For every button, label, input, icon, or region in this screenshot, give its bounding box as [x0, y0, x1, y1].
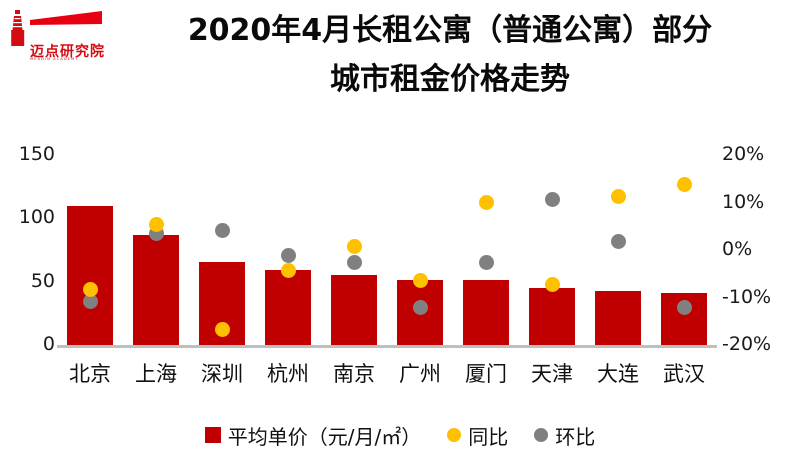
yoy-dot-天津[interactable]	[545, 277, 560, 292]
bar-上海[interactable]	[133, 235, 179, 345]
left-axis: 050100150	[0, 0, 55, 467]
right-axis: -20%-10%0%10%20%	[722, 0, 800, 467]
axis-baseline	[57, 345, 717, 348]
legend-swatch-square-icon	[205, 427, 221, 443]
category-label-北京: 北京	[57, 358, 123, 388]
legend-swatch-circle-icon	[447, 428, 461, 442]
left-axis-tick-150: 150	[3, 143, 55, 165]
bar-天津[interactable]	[529, 288, 575, 345]
yoy-dot-大连[interactable]	[611, 189, 626, 204]
mom-dot-广州[interactable]	[413, 300, 428, 315]
category-label-广州: 广州	[387, 358, 453, 388]
mom-dot-厦门[interactable]	[479, 255, 494, 270]
category-label-深圳: 深圳	[189, 358, 255, 388]
category-label-厦门: 厦门	[453, 358, 519, 388]
legend-label: 平均单价（元/月/㎡）	[228, 421, 421, 450]
category-label-大连: 大连	[585, 358, 651, 388]
legend-item-1[interactable]: 同比	[447, 421, 508, 450]
bar-大连[interactable]	[595, 291, 641, 345]
chart-plot-area: 050100150 -20%-10%0%10%20% 北京上海深圳杭州南京广州厦…	[0, 0, 800, 467]
mom-dot-南京[interactable]	[347, 255, 362, 270]
left-axis-tick-100: 100	[3, 206, 55, 228]
yoy-dot-深圳[interactable]	[215, 322, 230, 337]
category-label-杭州: 杭州	[255, 358, 321, 388]
category-label-天津: 天津	[519, 358, 585, 388]
yoy-dot-杭州[interactable]	[281, 263, 296, 278]
mom-dot-天津[interactable]	[545, 192, 560, 207]
legend-label: 环比	[555, 421, 595, 450]
bar-北京[interactable]	[67, 206, 113, 345]
mom-dot-大连[interactable]	[611, 234, 626, 249]
yoy-dot-南京[interactable]	[347, 239, 362, 254]
yoy-dot-北京[interactable]	[83, 282, 98, 297]
legend-label: 同比	[468, 421, 508, 450]
right-axis-tick-neg10pct: -10%	[722, 286, 792, 308]
mom-dot-武汉[interactable]	[677, 300, 692, 315]
left-axis-tick-50: 50	[3, 270, 55, 292]
right-axis-tick-20pct: 20%	[722, 143, 792, 165]
category-label-上海: 上海	[123, 358, 189, 388]
yoy-dot-厦门[interactable]	[479, 195, 494, 210]
yoy-dot-广州[interactable]	[413, 273, 428, 288]
bar-杭州[interactable]	[265, 270, 311, 345]
right-axis-tick-10pct: 10%	[722, 191, 792, 213]
legend-item-0[interactable]: 平均单价（元/月/㎡）	[205, 421, 421, 450]
legend-swatch-circle-icon	[534, 428, 548, 442]
bar-厦门[interactable]	[463, 280, 509, 345]
category-label-武汉: 武汉	[651, 358, 717, 388]
bar-南京[interactable]	[331, 275, 377, 345]
left-axis-tick-0: 0	[3, 333, 55, 355]
yoy-dot-武汉[interactable]	[677, 177, 692, 192]
mom-dot-杭州[interactable]	[281, 248, 296, 263]
right-axis-tick-0pct: 0%	[722, 238, 792, 260]
right-axis-tick-neg20pct: -20%	[722, 333, 792, 355]
yoy-dot-上海[interactable]	[149, 217, 164, 232]
chart-legend: 平均单价（元/月/㎡）同比环比	[0, 418, 800, 452]
mom-dot-深圳[interactable]	[215, 223, 230, 238]
legend-item-2[interactable]: 环比	[534, 421, 595, 450]
category-label-南京: 南京	[321, 358, 387, 388]
